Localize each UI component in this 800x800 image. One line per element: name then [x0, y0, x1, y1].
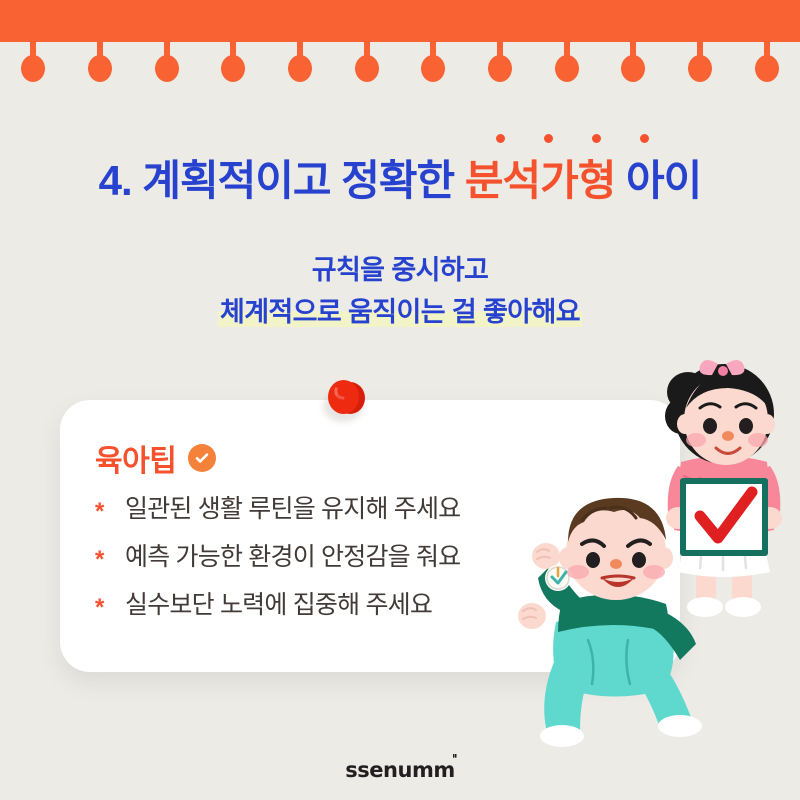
- tip-text: 실수보단 노력에 집중해 주세요: [125, 591, 432, 620]
- brand-logo-text: ssenumm: [345, 758, 454, 782]
- card-heading-label: 육아팁: [95, 436, 176, 480]
- infographic-page: 4. 계획적이고 정확한 분석가형 아이 규칙을 중시하고 체계적으로 움직이는…: [0, 0, 800, 800]
- title-accent: 분석가형: [465, 157, 616, 204]
- tip-item: *실수보단 노력에 집중해 주세요: [95, 591, 635, 620]
- subtitle-line-2: 체계적으로 움직이는 걸 좋아해요: [218, 297, 582, 327]
- header-drop: [288, 42, 312, 82]
- card-heading: 육아팁: [95, 436, 216, 480]
- pin-icon: [325, 378, 369, 422]
- tips-card: 육아팁 *일관된 생활 루틴을 유지해 주세요*예측 가능한 환경이 안정감을 …: [60, 400, 680, 672]
- asterisk-icon: *: [95, 500, 111, 524]
- header-drop-decoration: [0, 42, 800, 82]
- header-drop: [355, 42, 379, 82]
- header-bar: [0, 0, 800, 42]
- title-prefix: 4. 계획적이고 정확한: [99, 157, 465, 204]
- header-drop: [621, 42, 645, 82]
- title-dot: [592, 134, 601, 143]
- header-drop: [88, 42, 112, 82]
- header-drop: [688, 42, 712, 82]
- tip-text: 예측 가능한 환경이 안정감을 줘요: [125, 543, 460, 572]
- subtitle-line-1: 규칙을 중시하고: [0, 250, 800, 292]
- header-drop: [488, 42, 512, 82]
- asterisk-icon: *: [95, 596, 111, 620]
- title-block: 4. 계획적이고 정확한 분석가형 아이: [0, 128, 800, 209]
- title-dot: [640, 134, 649, 143]
- title-dot: [544, 134, 553, 143]
- header-drop: [155, 42, 179, 82]
- title-dot-decoration: [0, 134, 800, 148]
- page-title: 4. 계획적이고 정확한 분석가형 아이: [0, 154, 800, 209]
- header-drop: [755, 42, 779, 82]
- tip-item: *예측 가능한 환경이 안정감을 줘요: [95, 543, 635, 572]
- header-drop: [421, 42, 445, 82]
- header-drop: [555, 42, 579, 82]
- subtitle-line-2-wrap: 체계적으로 움직이는 걸 좋아해요: [0, 292, 800, 334]
- subtitle: 규칙을 중시하고 체계적으로 움직이는 걸 좋아해요: [0, 250, 800, 334]
- title-suffix: 아이: [615, 157, 701, 204]
- footer: ssenumm '': [0, 758, 800, 782]
- tip-item: *일관된 생활 루틴을 유지해 주세요: [95, 495, 635, 524]
- asterisk-icon: *: [95, 548, 111, 572]
- brand-logo: ssenumm '': [345, 758, 454, 782]
- header-drop: [21, 42, 45, 82]
- header-drop: [221, 42, 245, 82]
- tip-text: 일관된 생활 루틴을 유지해 주세요: [125, 495, 460, 524]
- title-dot: [496, 134, 505, 143]
- brand-logo-tick-icon: '': [452, 753, 456, 768]
- tips-list: *일관된 생활 루틴을 유지해 주세요*예측 가능한 환경이 안정감을 줘요*실…: [95, 495, 635, 639]
- check-circle-icon: [188, 444, 216, 472]
